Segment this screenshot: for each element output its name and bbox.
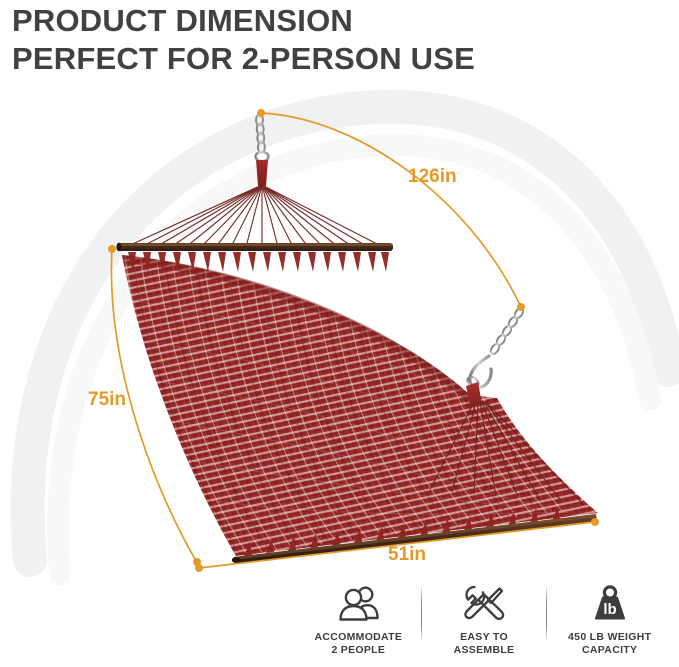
feature-assemble-label: EASY TO ASSEMBLE: [454, 631, 515, 657]
weight-icon-text: lb: [603, 601, 616, 618]
page-title-line-1: PRODUCT DIMENSION: [12, 2, 612, 40]
hammock-svg: [0, 0, 679, 585]
left-spreader-bar-highlight: [118, 244, 393, 246]
feature-accommodate: ACCOMMODATE 2 PEOPLE: [296, 583, 421, 657]
feature-weight-capacity-label-line-2: CAPACITY: [568, 644, 651, 657]
feature-assemble-label-line-1: EASY TO: [454, 631, 515, 644]
page-title-line-2: PERFECT FOR 2-PERSON USE: [12, 40, 612, 78]
left-suspension-cords: [126, 185, 383, 247]
left-chain: [256, 115, 265, 153]
left-spreader-bar-end-cap: [116, 243, 121, 251]
hammock-illustration: 126in 75in 51in: [0, 0, 679, 585]
dimension-label-width: 51in: [388, 544, 426, 566]
feature-assemble: EASY TO ASSEMBLE: [422, 583, 547, 657]
dimension-line-diagonal: [261, 113, 520, 305]
feature-accommodate-label: ACCOMMODATE 2 PEOPLE: [314, 631, 402, 657]
dimension-endpoint-width-right: [591, 518, 599, 526]
feature-assemble-label-line-2: ASSEMBLE: [454, 644, 515, 657]
feature-weight-capacity: lb 450 LB WEIGHT CAPACITY: [547, 583, 672, 657]
feature-accommodate-label-line-1: ACCOMMODATE: [314, 631, 402, 644]
feature-strip: ACCOMMODATE 2 PEOPLE EASY TO ASSEMBLE: [296, 583, 672, 665]
weight-icon: lb: [590, 583, 630, 625]
right-spreader-bar-end-cap: [232, 557, 240, 563]
feature-weight-capacity-label: 450 LB WEIGHT CAPACITY: [568, 631, 651, 657]
hammock-bed: [122, 250, 598, 556]
dimension-endpoint-height-top: [108, 245, 116, 253]
hammock-bed-weave: [122, 255, 598, 556]
dimension-label-diagonal: 126in: [408, 166, 457, 188]
page-title: PRODUCT DIMENSION PERFECT FOR 2-PERSON U…: [12, 2, 612, 78]
right-chain: [489, 307, 525, 356]
product-dimension-infographic: PRODUCT DIMENSION PERFECT FOR 2-PERSON U…: [0, 0, 679, 667]
tools-icon: [463, 583, 505, 625]
dimension-endpoint-width-left: [195, 564, 203, 572]
right-carabiner: [470, 356, 491, 388]
dimension-endpoint-diagonal-start: [257, 109, 265, 117]
dimension-label-height: 75in: [88, 389, 126, 411]
feature-weight-capacity-label-line-1: 450 LB WEIGHT: [568, 631, 651, 644]
people-icon: [335, 583, 381, 625]
feature-accommodate-label-line-2: 2 PEOPLE: [314, 644, 402, 657]
dimension-endpoint-diagonal-end: [517, 303, 525, 311]
